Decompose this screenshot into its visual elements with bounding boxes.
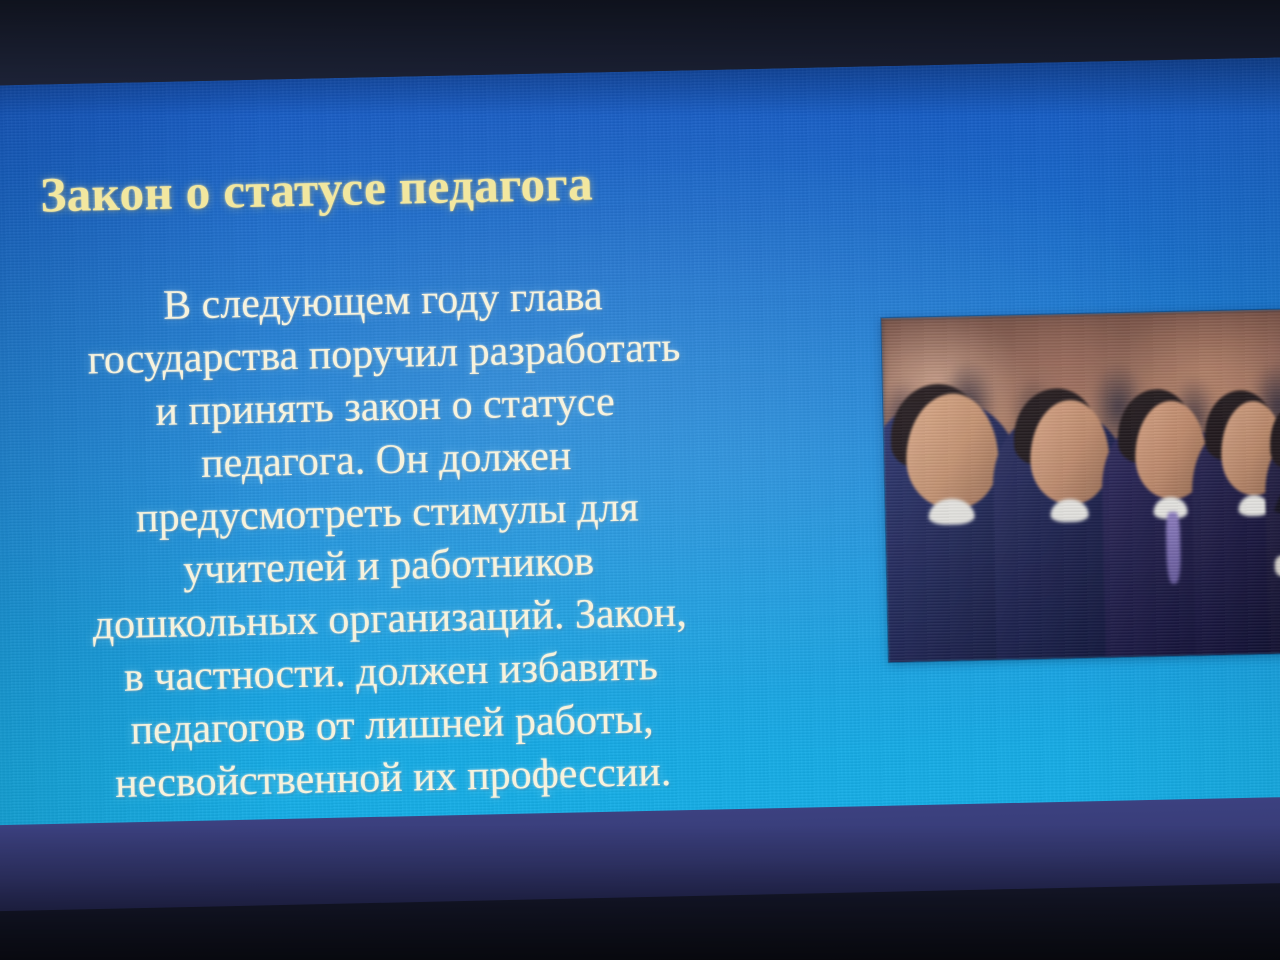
slide-photo — [881, 308, 1280, 662]
photo-person-tie — [1166, 511, 1181, 584]
slide-title: Закон о статусе педагога — [40, 154, 594, 223]
projected-slide-photo: Закон о статусе педагога В следующем год… — [0, 0, 1280, 960]
slide-container: Закон о статусе педагога В следующем год… — [0, 57, 1280, 866]
slide-body-text: В следующем году глава государства поруч… — [0, 265, 844, 815]
